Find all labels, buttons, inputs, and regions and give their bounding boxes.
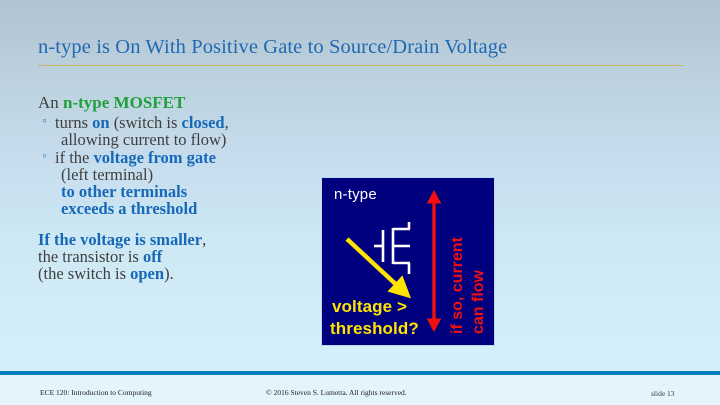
lead-line: An n-type MOSFET xyxy=(38,94,328,112)
footer-course-name: ECE 120: Introduction to Computing xyxy=(40,388,152,397)
paragraph-line: (the switch is open). xyxy=(38,265,328,282)
footer-slide-number: slide 13 xyxy=(651,389,675,398)
list-item-line: allowing current to flow) xyxy=(55,131,328,148)
text-segment-emphasis: closed xyxy=(182,113,225,132)
text-segment-emphasis: voltage from gate xyxy=(94,148,217,167)
list-item: ◦ if the voltage from gate (left termina… xyxy=(38,149,328,218)
list-item-line: exceeds a threshold xyxy=(55,200,328,217)
text-segment: , xyxy=(202,230,206,249)
list-item-line: to other terminals xyxy=(55,183,328,200)
list-item-line: (left terminal) xyxy=(55,166,328,183)
text-segment: (left terminal) xyxy=(61,165,153,184)
text-segment-emphasis: off xyxy=(143,247,162,266)
text-segment: turns xyxy=(55,113,92,132)
text-segment: allowing current to flow) xyxy=(61,130,226,149)
diagram-yellow-caption-line-2: threshold? xyxy=(330,319,419,339)
current-flow-double-arrow-icon xyxy=(424,190,444,332)
gate-pointer-arrow-icon xyxy=(344,236,424,306)
text-segment: ). xyxy=(164,264,174,283)
text-segment-emphasis: open xyxy=(130,264,164,283)
text-segment: if the xyxy=(55,148,94,167)
diagram-red-caption-line-2: can flow xyxy=(470,270,488,334)
diagram-type-label: n-type xyxy=(334,186,377,203)
slide-canvas: n-type is On With Positive Gate to Sourc… xyxy=(0,0,720,405)
bullet-circle-icon: ◦ xyxy=(42,149,47,165)
list-item: ◦ turns on (switch is closed, allowing c… xyxy=(38,114,328,148)
text-segment: (the switch is xyxy=(38,264,130,283)
list-item-line: if the voltage from gate xyxy=(55,149,328,166)
footer-copyright: © 2016 Steven S. Lumetta. All rights res… xyxy=(266,388,407,397)
text-segment: the transistor is xyxy=(38,247,143,266)
text-segment: (switch is xyxy=(110,113,182,132)
lead-prefix: An xyxy=(38,93,63,112)
paragraph-line: the transistor is off xyxy=(38,248,328,265)
text-segment-emphasis: If the voltage is smaller xyxy=(38,230,202,249)
title-underline-rule xyxy=(38,65,683,67)
diagram-yellow-caption-line-1: voltage > xyxy=(332,297,407,317)
title-block: n-type is On With Positive Gate to Sourc… xyxy=(38,36,688,66)
paragraph-line: If the voltage is smaller, xyxy=(38,231,328,248)
lead-emphasis: n-type MOSFET xyxy=(63,93,185,112)
diagram-red-caption-line-1: if so, current xyxy=(449,237,467,334)
text-segment-emphasis: on xyxy=(92,113,109,132)
body-content: An n-type MOSFET ◦ turns on (switch is c… xyxy=(38,94,328,282)
bullet-circle-icon: ◦ xyxy=(42,114,47,130)
mosfet-diagram-figure: n-type xyxy=(322,178,494,345)
list-item-line: turns on (switch is closed, xyxy=(55,114,328,131)
page-title: n-type is On With Positive Gate to Sourc… xyxy=(38,36,688,60)
text-segment: , xyxy=(225,113,229,132)
